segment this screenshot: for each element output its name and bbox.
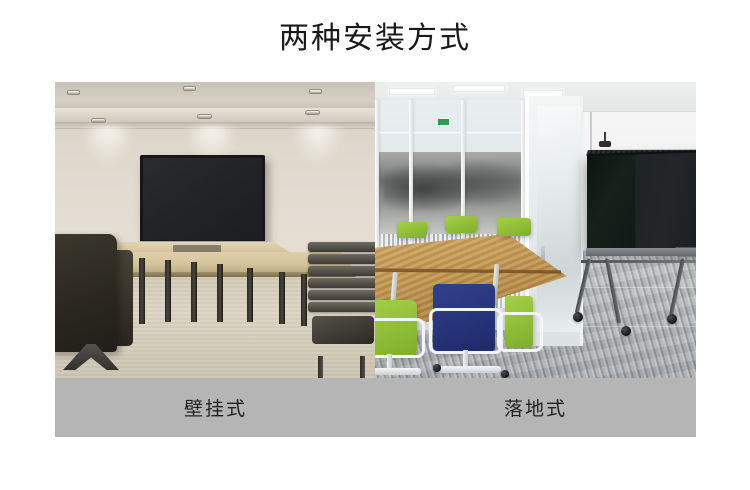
chair-base xyxy=(375,368,421,375)
downlight-icon xyxy=(305,110,320,115)
table-leg xyxy=(191,262,197,322)
ceiling-light-icon xyxy=(67,90,80,95)
chair-armrest-frame xyxy=(497,312,543,352)
floor-standing-display xyxy=(587,150,696,255)
display-screen-reflection xyxy=(587,154,636,251)
caption-wall-mount: 壁挂式 xyxy=(55,378,376,437)
install-option-wall-mount[interactable]: 壁挂式 xyxy=(55,82,376,437)
glass-door[interactable] xyxy=(525,96,583,346)
stacked-chair-row xyxy=(308,254,376,264)
page-title: 两种安装方式 xyxy=(0,20,750,58)
display-bottom-bar xyxy=(586,248,696,257)
chair-caster xyxy=(501,370,509,378)
camera-arm xyxy=(604,132,606,141)
ceiling-light-panel-icon xyxy=(453,85,505,92)
wall-light-wash xyxy=(283,126,353,182)
wall-light-wash xyxy=(73,126,143,182)
wall-mounted-display xyxy=(140,155,265,243)
chair-base xyxy=(437,366,501,373)
product-feature-page: 两种安装方式 xyxy=(0,0,750,490)
chair-leg xyxy=(360,356,365,378)
exit-sign-icon xyxy=(437,118,450,126)
stacked-chair-row xyxy=(308,302,376,312)
ceiling-light-icon xyxy=(183,86,196,91)
ceiling-light-panel-icon xyxy=(389,88,435,95)
video-camera-icon xyxy=(597,138,613,148)
photo-floor-stand xyxy=(375,82,696,378)
glass-transom xyxy=(375,132,527,135)
table-leg xyxy=(279,272,285,324)
stacked-chair-row xyxy=(308,278,376,288)
chair-green xyxy=(497,218,531,236)
display-screen xyxy=(143,158,262,240)
chair-green xyxy=(397,222,427,238)
office-chair xyxy=(55,234,117,352)
downlight-icon xyxy=(197,114,212,119)
photo-wall-mount xyxy=(55,82,376,378)
table-leg xyxy=(139,258,145,324)
install-option-floor-stand[interactable]: 落地式 xyxy=(375,82,696,437)
stacked-chair-row xyxy=(308,290,376,300)
stacked-chair-row xyxy=(308,266,376,276)
stacked-chairs xyxy=(308,242,376,360)
camera-body xyxy=(599,141,611,147)
door-glass-pane xyxy=(537,106,581,332)
stand-crossbar xyxy=(581,260,696,263)
chair-caster xyxy=(433,364,441,372)
caption-floor-stand: 落地式 xyxy=(375,378,696,437)
stacked-chair-row xyxy=(308,242,376,252)
chair-leg xyxy=(318,356,323,378)
chair-armrest-frame xyxy=(375,318,425,358)
chair-armrest-frame xyxy=(429,308,503,354)
mural-cloud xyxy=(383,160,519,212)
ceiling-light-icon xyxy=(309,89,322,94)
stand-caster xyxy=(573,312,583,322)
table-leg xyxy=(165,260,171,322)
stand-caster xyxy=(621,326,631,336)
stand-caster xyxy=(667,314,677,324)
stacked-chair-seat xyxy=(312,316,374,344)
table-leg xyxy=(217,264,223,322)
downlight-icon xyxy=(91,118,106,123)
table-leg xyxy=(301,274,307,326)
chair-green xyxy=(445,216,477,233)
table-leg xyxy=(247,268,253,322)
